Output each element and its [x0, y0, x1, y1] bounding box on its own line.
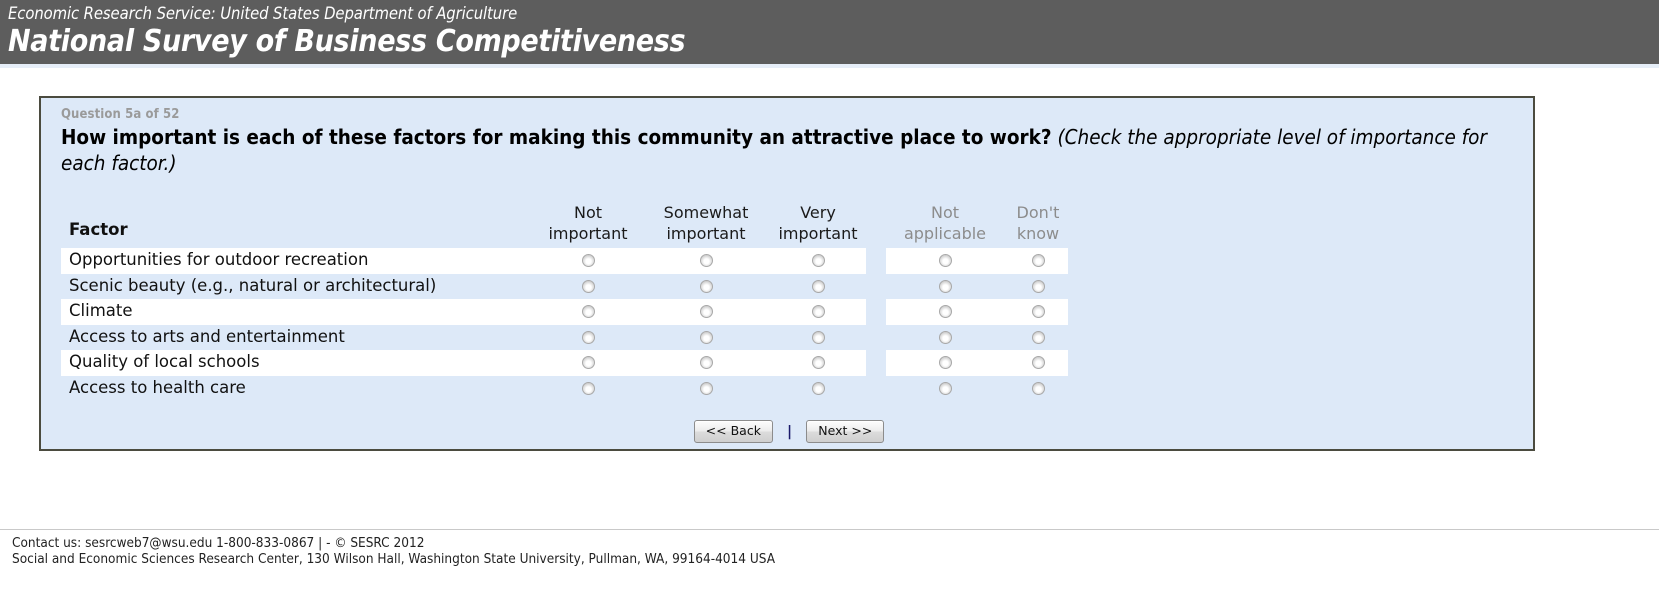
matrix-row: Access to health care: [61, 376, 1517, 402]
factor-label: Opportunities for outdoor recreation: [69, 250, 368, 269]
question-prompt: How important is each of these factors f…: [61, 124, 1509, 176]
site-banner: Economic Research Service: United States…: [0, 0, 1659, 64]
radio-button[interactable]: [1032, 280, 1045, 293]
survey-title: National Survey of Business Competitiven…: [8, 25, 1659, 59]
matrix-row: Quality of local schools: [61, 350, 1517, 376]
factor-label: Quality of local schools: [69, 352, 260, 371]
column-header-line1: Somewhat: [636, 202, 776, 223]
radio-button[interactable]: [582, 280, 595, 293]
column-header-line1: Don't: [983, 202, 1093, 223]
column-header-line2: know: [983, 223, 1093, 244]
column-header-line1: Very: [758, 202, 878, 223]
agency-name: Economic Research Service: United States…: [8, 4, 1659, 24]
factor-column-header: Factor: [69, 220, 128, 239]
radio-button[interactable]: [812, 305, 825, 318]
column-header-line2: important: [636, 223, 776, 244]
matrix-row: Scenic beauty (e.g., natural or architec…: [61, 274, 1517, 300]
radio-button[interactable]: [700, 280, 713, 293]
matrix-row: Access to arts and entertainment: [61, 325, 1517, 351]
column-header-line2: important: [758, 223, 878, 244]
radio-button[interactable]: [812, 254, 825, 267]
factor-label: Climate: [69, 301, 133, 320]
radio-button[interactable]: [939, 254, 952, 267]
radio-button[interactable]: [812, 280, 825, 293]
radio-button[interactable]: [1032, 331, 1045, 344]
radio-button[interactable]: [939, 356, 952, 369]
back-button[interactable]: << Back: [694, 420, 773, 443]
radio-button[interactable]: [939, 382, 952, 395]
page-footer: Contact us: sesrcweb7@wsu.edu 1-800-833-…: [12, 536, 1652, 567]
radio-button[interactable]: [1032, 305, 1045, 318]
radio-button[interactable]: [1032, 254, 1045, 267]
factor-label: Access to arts and entertainment: [69, 327, 345, 346]
column-header-line1: Not: [528, 202, 648, 223]
question-number: Question 5a of 52: [61, 107, 179, 122]
radio-button[interactable]: [812, 382, 825, 395]
column-header-line2: important: [528, 223, 648, 244]
radio-button[interactable]: [1032, 382, 1045, 395]
column-header-dont-know: Don't know: [983, 202, 1093, 244]
banner-underline: [0, 64, 1659, 68]
column-header-very-important: Very important: [758, 202, 878, 244]
matrix-row: Opportunities for outdoor recreation: [61, 248, 1517, 274]
radio-button[interactable]: [1032, 356, 1045, 369]
radio-button[interactable]: [700, 382, 713, 395]
radio-button[interactable]: [812, 331, 825, 344]
radio-button[interactable]: [939, 280, 952, 293]
row-band-left: [61, 299, 866, 325]
rating-matrix: Factor Not important Somewhat important …: [61, 200, 1517, 401]
radio-button[interactable]: [700, 305, 713, 318]
next-button[interactable]: Next >>: [806, 420, 884, 443]
question-prompt-bold: How important is each of these factors f…: [61, 125, 1052, 149]
factor-label: Scenic beauty (e.g., natural or architec…: [69, 276, 436, 295]
radio-button[interactable]: [700, 331, 713, 344]
factor-label: Access to health care: [69, 378, 246, 397]
matrix-body: Opportunities for outdoor recreationScen…: [61, 248, 1517, 401]
radio-button[interactable]: [939, 305, 952, 318]
navigation-bar: << Back | Next >>: [41, 420, 1537, 443]
radio-button[interactable]: [582, 356, 595, 369]
radio-button[interactable]: [582, 382, 595, 395]
column-header-somewhat-important: Somewhat important: [636, 202, 776, 244]
nav-separator: |: [787, 424, 792, 440]
footer-address-line: Social and Economic Sciences Research Ce…: [12, 552, 1652, 568]
footer-contact-line: Contact us: sesrcweb7@wsu.edu 1-800-833-…: [12, 536, 1652, 552]
matrix-row: Climate: [61, 299, 1517, 325]
radio-button[interactable]: [700, 356, 713, 369]
footer-divider: [0, 529, 1659, 530]
radio-button[interactable]: [582, 331, 595, 344]
radio-button[interactable]: [582, 254, 595, 267]
column-header-not-important: Not important: [528, 202, 648, 244]
question-panel: Question 5a of 52 How important is each …: [39, 96, 1535, 451]
radio-button[interactable]: [939, 331, 952, 344]
radio-button[interactable]: [812, 356, 825, 369]
radio-button[interactable]: [582, 305, 595, 318]
matrix-header-row: Factor Not important Somewhat important …: [61, 200, 1517, 248]
radio-button[interactable]: [700, 254, 713, 267]
